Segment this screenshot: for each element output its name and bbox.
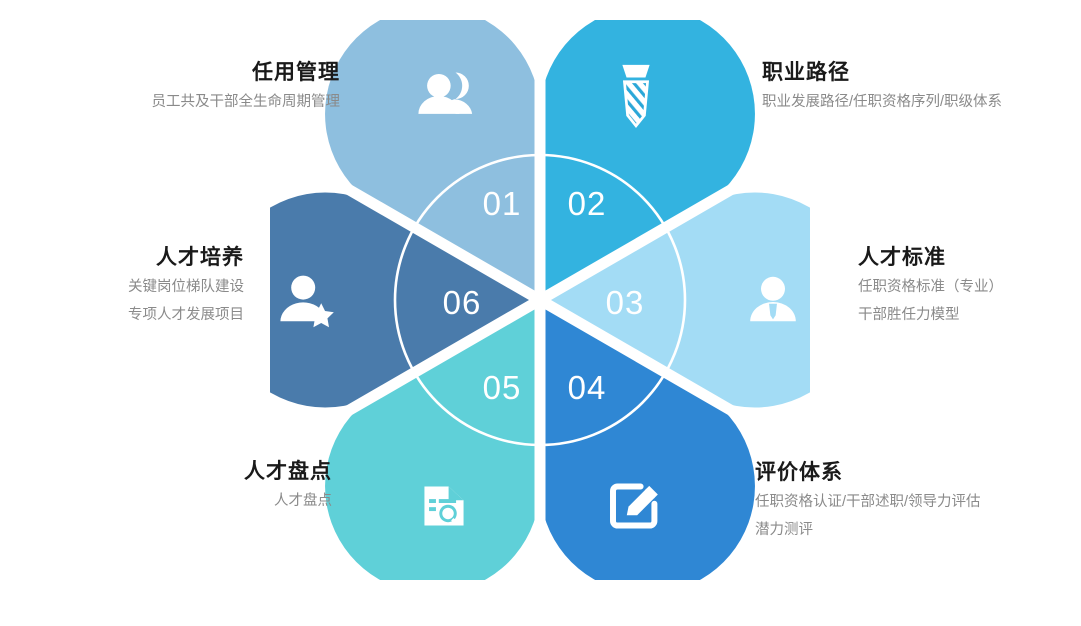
petal-number-06: 06 [443, 284, 482, 321]
segment-title-06: 人才培养 [20, 243, 244, 273]
segment-title-01: 任用管理 [20, 58, 340, 88]
segment-subtitle-01-line-1: 员工共及干部全生命周期管理 [20, 88, 340, 116]
segment-title-05: 人才盘点 [60, 457, 332, 487]
petal-number-01: 01 [483, 185, 522, 222]
segment-title-03: 人才标准 [858, 243, 1080, 273]
petal-flower-graphic: 01 02 03 04 05 06 [270, 20, 810, 580]
petal-number-04: 04 [568, 369, 607, 406]
segment-subtitle-03-line-1: 任职资格标准（专业） [858, 273, 1080, 301]
segment-label-04[interactable]: 评价体系 任职资格认证/干部述职/领导力评估 潜力测评 [755, 458, 1081, 544]
segment-subtitle-04-line-2: 潜力测评 [755, 516, 1081, 544]
segment-title-02: 职业路径 [762, 58, 1081, 88]
segment-label-05[interactable]: 人才盘点 人才盘点 [60, 457, 332, 515]
petal-number-05: 05 [483, 369, 522, 406]
segment-subtitle-03-line-2: 干部胜任力模型 [858, 301, 1080, 329]
segment-label-01[interactable]: 任用管理 员工共及干部全生命周期管理 [20, 58, 340, 116]
petal-number-03: 03 [606, 284, 645, 321]
segment-label-06[interactable]: 人才培养 关键岗位梯队建设 专项人才发展项目 [20, 243, 244, 329]
segment-subtitle-02-line-1: 职业发展路径/任职资格序列/职级体系 [762, 88, 1081, 116]
segment-title-04: 评价体系 [755, 458, 1081, 488]
segment-subtitle-06-line-2: 专项人才发展项目 [20, 301, 244, 329]
segment-label-03[interactable]: 人才标准 任职资格标准（专业） 干部胜任力模型 [858, 243, 1080, 329]
diagram-canvas: 01 02 03 04 05 06 [0, 0, 1081, 626]
segment-subtitle-05-line-1: 人才盘点 [60, 487, 332, 515]
segment-label-02[interactable]: 职业路径 职业发展路径/任职资格序列/职级体系 [762, 58, 1081, 116]
segment-subtitle-06-line-1: 关键岗位梯队建设 [20, 273, 244, 301]
petal-number-02: 02 [568, 185, 607, 222]
segment-subtitle-04-line-1: 任职资格认证/干部述职/领导力评估 [755, 488, 1081, 516]
